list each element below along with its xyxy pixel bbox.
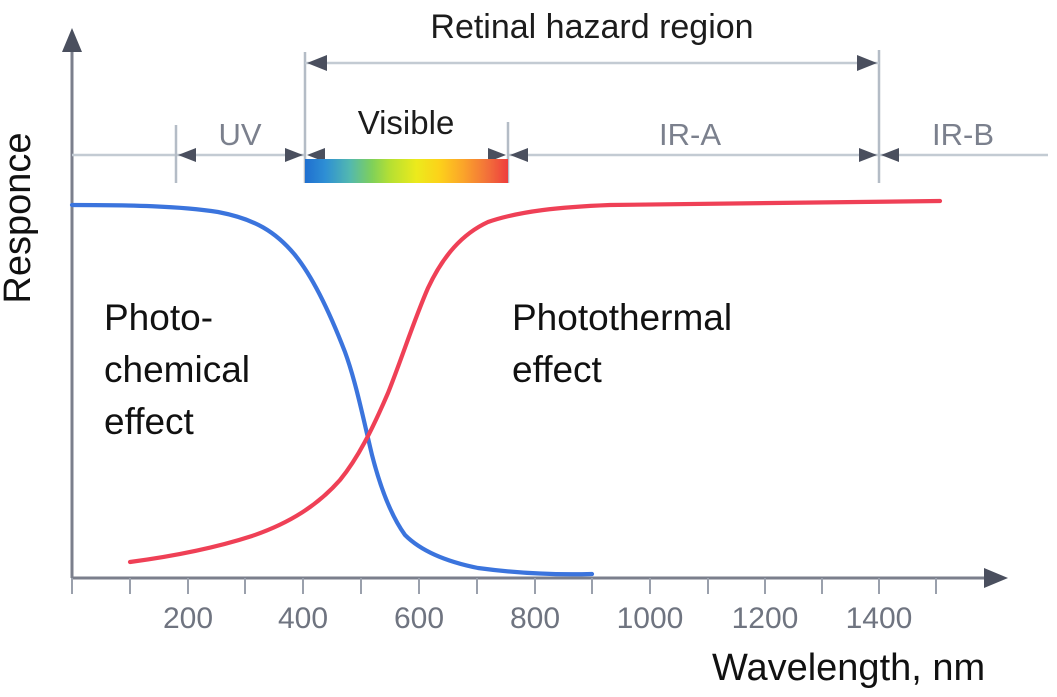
xtick-label-1400: 1400: [846, 602, 913, 635]
x-axis-ticks: [72, 578, 936, 594]
band-label-uv: UV: [218, 117, 261, 152]
x-axis: [72, 568, 1008, 588]
annotation-line-2: effect: [512, 349, 603, 390]
y-axis: [62, 28, 82, 578]
annotation-line-1: Photo-: [104, 297, 213, 338]
x-axis-tick-labels: 200 400 600 800 1000 1200 1400: [163, 602, 912, 635]
annotation-line-2: chemical: [104, 349, 250, 390]
annotation-photothermal: Photothermal effect: [512, 297, 732, 390]
xtick-label-200: 200: [163, 602, 213, 635]
xtick-label-800: 800: [510, 602, 560, 635]
xtick-label-600: 600: [394, 602, 444, 635]
xtick-label-1200: 1200: [732, 602, 799, 635]
band-label-visible: Visible: [358, 104, 455, 141]
retinal-hazard-region-title: Retinal hazard region: [430, 8, 753, 46]
band-label-ir-b: IR-B: [932, 117, 994, 152]
xtick-label-400: 400: [278, 602, 328, 635]
retinal-hazard-region-arrow: [305, 55, 879, 71]
visible-spectrum-gradient: [305, 159, 508, 183]
band-label-ir-a: IR-A: [659, 117, 721, 152]
annotation-line-1: Photothermal: [512, 297, 732, 338]
x-axis-title: Wavelength, nm: [712, 647, 985, 689]
y-axis-title: Responce: [0, 132, 39, 303]
band-dividers: [176, 50, 879, 183]
annotation-line-3: effect: [104, 401, 195, 442]
retinal-hazard-response-chart: 200 400 600 800 1000 1200 1400: [0, 0, 1057, 697]
annotation-photochemical: Photo- chemical effect: [104, 297, 250, 442]
xtick-label-1000: 1000: [617, 602, 684, 635]
ir-b-band-arrows: [881, 148, 899, 162]
chart-canvas: 200 400 600 800 1000 1200 1400: [0, 0, 1057, 697]
